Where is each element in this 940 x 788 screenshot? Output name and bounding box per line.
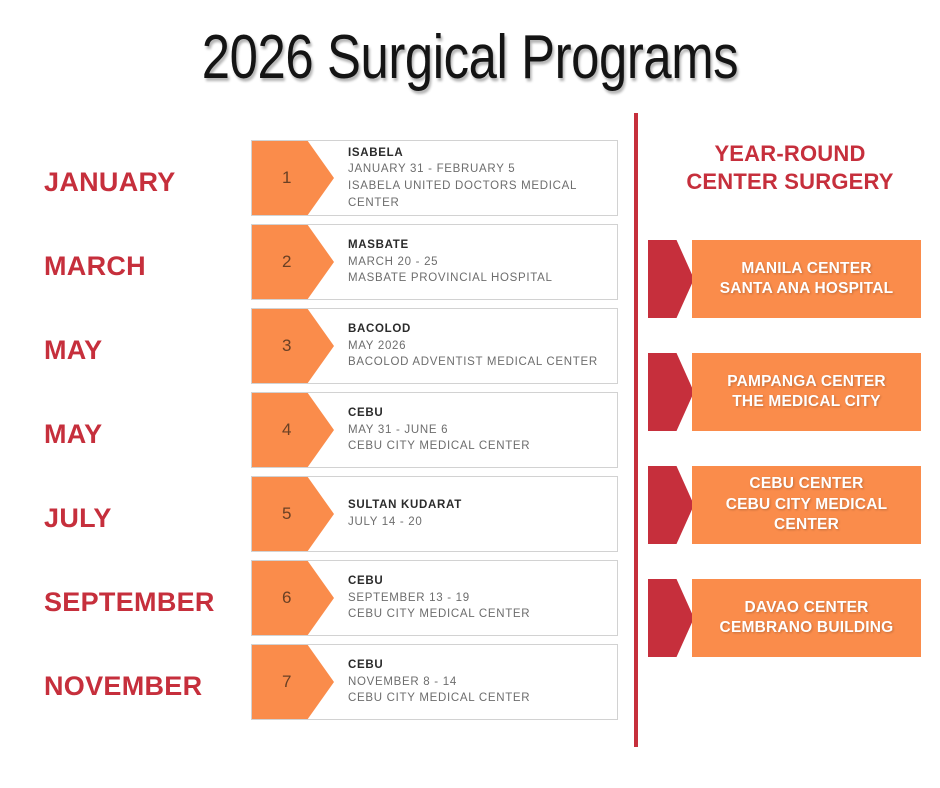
timeline-card-list: 1ISABELAJANUARY 31 - FEBRUARY 5ISABELA U… [251, 140, 618, 728]
card-number-badge: 3 [252, 309, 334, 383]
year-round-center-item[interactable]: CEBU CENTERCEBU CITY MEDICAL CENTER [640, 466, 940, 544]
year-round-center-box: DAVAO CENTERCEMBRANO BUILDING [692, 579, 921, 657]
year-round-center-box: CEBU CENTERCEBU CITY MEDICAL CENTER [692, 466, 921, 544]
timeline-card[interactable]: 6CEBUSEPTEMBER 13 - 19CEBU CITY MEDICAL … [251, 560, 618, 636]
card-location: ISABELA [348, 145, 609, 162]
card-number: 5 [282, 504, 291, 524]
timeline-card[interactable]: 4CEBUMAY 31 - JUNE 6CEBU CITY MEDICAL CE… [251, 392, 618, 468]
month-label: JULY [44, 503, 112, 534]
card-dates: JANUARY 31 - FEBRUARY 5 [348, 161, 609, 178]
month-row: SEPTEMBER [0, 560, 250, 644]
card-number: 4 [282, 420, 291, 440]
month-label: MAY [44, 419, 102, 450]
card-venue: BACOLOD ADVENTIST MEDICAL CENTER [348, 354, 609, 371]
card-dates: SEPTEMBER 13 - 19 [348, 590, 609, 607]
card-body: CEBUNOVEMBER 8 - 14CEBU CITY MEDICAL CEN… [334, 645, 617, 719]
card-dates: NOVEMBER 8 - 14 [348, 674, 609, 691]
month-label: MARCH [44, 251, 146, 282]
year-round-panel: YEAR-ROUND CENTER SURGERY MANILA CENTERS… [640, 0, 940, 788]
card-dates: JULY 14 - 20 [348, 514, 609, 531]
year-round-heading-line1: YEAR-ROUND [640, 140, 940, 168]
month-column: JANUARYMARCHMAYMAYJULYSEPTEMBERNOVEMBER [0, 140, 250, 728]
card-body: CEBUMAY 31 - JUNE 6CEBU CITY MEDICAL CEN… [334, 393, 617, 467]
card-number: 3 [282, 336, 291, 356]
chevron-right-icon [648, 466, 694, 544]
month-label: MAY [44, 335, 102, 366]
chevron-right-icon [648, 579, 694, 657]
card-body: SULTAN KUDARATJULY 14 - 20 [334, 477, 617, 551]
month-row: MAY [0, 392, 250, 476]
year-round-center-item[interactable]: DAVAO CENTERCEMBRANO BUILDING [640, 579, 940, 657]
card-number-badge: 2 [252, 225, 334, 299]
card-number-badge: 6 [252, 561, 334, 635]
card-venue: CEBU CITY MEDICAL CENTER [348, 606, 609, 623]
year-round-heading: YEAR-ROUND CENTER SURGERY [640, 140, 940, 196]
timeline-card[interactable]: 5SULTAN KUDARATJULY 14 - 20 [251, 476, 618, 552]
month-label: NOVEMBER [44, 671, 202, 702]
chevron-right-icon [648, 353, 694, 431]
card-location: CEBU [348, 405, 609, 422]
card-venue: ISABELA UNITED DOCTORS MEDICAL CENTER [348, 178, 609, 211]
month-row: NOVEMBER [0, 644, 250, 728]
card-venue: MASBATE PROVINCIAL HOSPITAL [348, 270, 609, 287]
chevron-right-icon [648, 240, 694, 318]
year-round-center-box: PAMPANGA CENTERTHE MEDICAL CITY [692, 353, 921, 431]
month-row: JULY [0, 476, 250, 560]
month-label: SEPTEMBER [44, 587, 215, 618]
timeline-card[interactable]: 3BACOLODMAY 2026BACOLOD ADVENTIST MEDICA… [251, 308, 618, 384]
card-venue: CEBU CITY MEDICAL CENTER [348, 438, 609, 455]
year-round-center-label: CEBU CENTERCEBU CITY MEDICAL CENTER [702, 474, 911, 535]
card-body: MASBATEMARCH 20 - 25MASBATE PROVINCIAL H… [334, 225, 617, 299]
card-dates: MARCH 20 - 25 [348, 254, 609, 271]
timeline-card[interactable]: 2MASBATEMARCH 20 - 25MASBATE PROVINCIAL … [251, 224, 618, 300]
year-round-center-item[interactable]: PAMPANGA CENTERTHE MEDICAL CITY [640, 353, 940, 431]
timeline-card[interactable]: 7CEBUNOVEMBER 8 - 14CEBU CITY MEDICAL CE… [251, 644, 618, 720]
year-round-center-label: MANILA CENTERSANTA ANA HOSPITAL [720, 259, 894, 300]
card-body: BACOLODMAY 2026BACOLOD ADVENTIST MEDICAL… [334, 309, 617, 383]
card-number-badge: 7 [252, 645, 334, 719]
card-body: ISABELAJANUARY 31 - FEBRUARY 5ISABELA UN… [334, 141, 617, 215]
year-round-heading-line2: CENTER SURGERY [640, 168, 940, 196]
month-label: JANUARY [44, 167, 176, 198]
card-location: CEBU [348, 657, 609, 674]
card-dates: MAY 2026 [348, 338, 609, 355]
timeline-card[interactable]: 1ISABELAJANUARY 31 - FEBRUARY 5ISABELA U… [251, 140, 618, 216]
card-number-badge: 1 [252, 141, 334, 215]
year-round-center-list: MANILA CENTERSANTA ANA HOSPITALPAMPANGA … [640, 240, 940, 692]
card-number: 1 [282, 168, 291, 188]
card-location: MASBATE [348, 237, 609, 254]
card-venue: CEBU CITY MEDICAL CENTER [348, 690, 609, 707]
card-location: SULTAN KUDARAT [348, 497, 609, 514]
card-number-badge: 5 [252, 477, 334, 551]
card-number: 2 [282, 252, 291, 272]
year-round-center-item[interactable]: MANILA CENTERSANTA ANA HOSPITAL [640, 240, 940, 318]
card-number: 6 [282, 588, 291, 608]
year-round-center-label: DAVAO CENTERCEMBRANO BUILDING [720, 598, 894, 639]
card-number-badge: 4 [252, 393, 334, 467]
card-location: CEBU [348, 573, 609, 590]
infographic-page: 2026 Surgical Programs JANUARYMARCHMAYMA… [0, 0, 940, 788]
card-body: CEBUSEPTEMBER 13 - 19CEBU CITY MEDICAL C… [334, 561, 617, 635]
month-row: MARCH [0, 224, 250, 308]
year-round-center-box: MANILA CENTERSANTA ANA HOSPITAL [692, 240, 921, 318]
card-dates: MAY 31 - JUNE 6 [348, 422, 609, 439]
month-row: JANUARY [0, 140, 250, 224]
card-number: 7 [282, 672, 291, 692]
card-location: BACOLOD [348, 321, 609, 338]
month-row: MAY [0, 308, 250, 392]
year-round-center-label: PAMPANGA CENTERTHE MEDICAL CITY [727, 372, 886, 413]
vertical-divider [634, 113, 638, 747]
